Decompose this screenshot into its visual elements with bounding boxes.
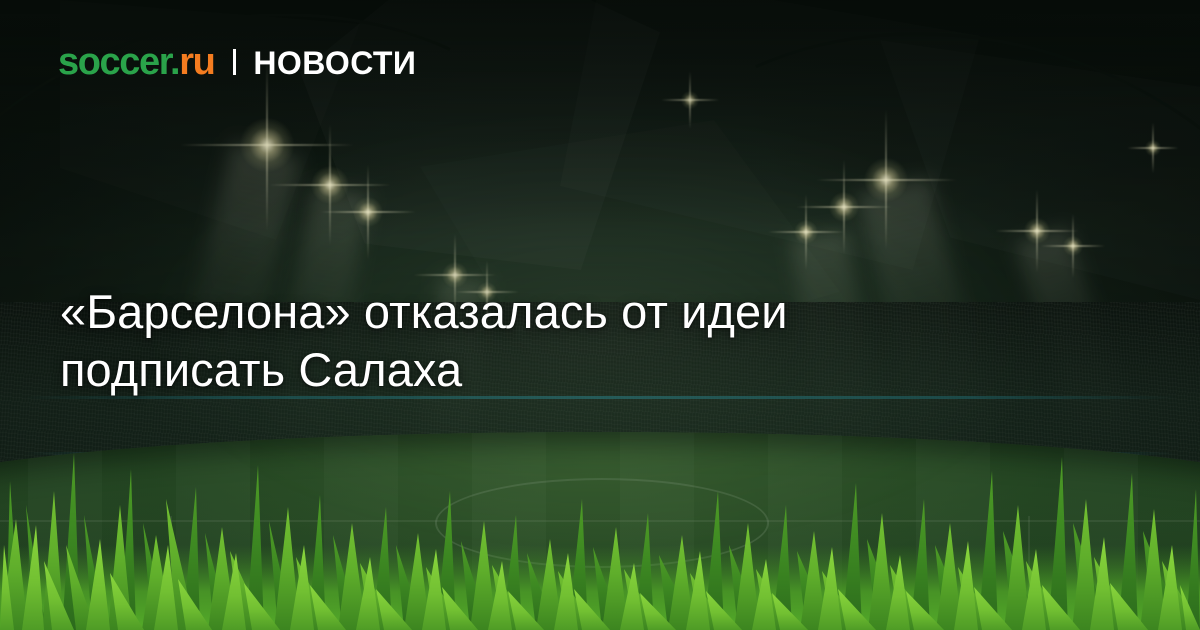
headline-line-1: «Барселона» отказалась от идеи (60, 285, 788, 338)
section-label: НОВОСТИ (253, 47, 416, 79)
page-title: «Барселона» отказалась от идеи подписать… (60, 283, 1040, 398)
logo-word-soccer: soccer (58, 41, 170, 83)
site-logo[interactable]: soccer.ru (58, 43, 214, 81)
news-share-card: soccer.ru НОВОСТИ «Барселона» отказалась… (0, 0, 1200, 630)
logo-tld-ru: ru (179, 41, 214, 83)
logo-dot: . (170, 41, 179, 83)
brand-bar[interactable]: soccer.ru НОВОСТИ (58, 43, 416, 81)
brand-separator-icon (233, 49, 236, 75)
headline-line-2: подписать Салаха (60, 341, 1040, 398)
